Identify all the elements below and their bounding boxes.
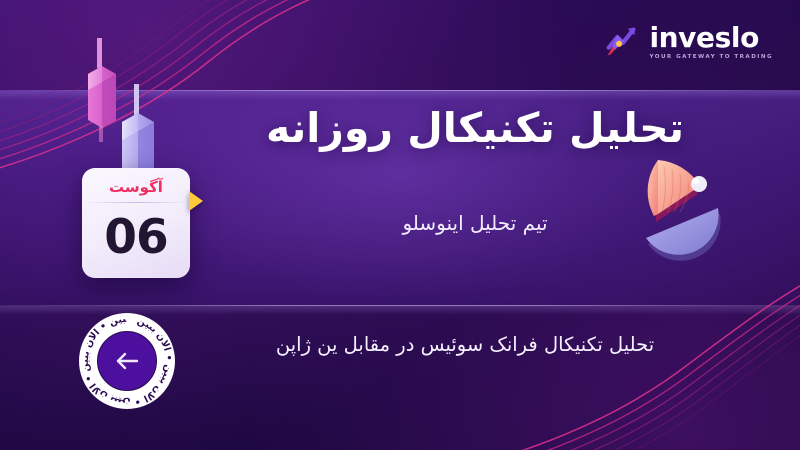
brand-logo[interactable]: inveslo YOUR GATEWAY TO TRADING bbox=[602, 22, 774, 61]
rocket-growth-arrow-icon bbox=[602, 22, 640, 60]
watch-now-badge[interactable]: الان ببین • الان ببین • الان ببین • الان… bbox=[79, 313, 175, 409]
brand-name: inveslo bbox=[649, 24, 774, 52]
calendar-separator bbox=[82, 202, 190, 203]
page-subtitle: تیم تحلیل اینوسلو bbox=[190, 211, 760, 235]
calendar-flag-icon bbox=[189, 191, 203, 211]
description-text: تحلیل تکنیکال فرانک سوئیس در مقابل ین ژا… bbox=[185, 330, 745, 360]
slide-canvas: inveslo YOUR GATEWAY TO TRADING آگوست 06… bbox=[0, 0, 800, 450]
brand-tagline: YOUR GATEWAY TO TRADING bbox=[649, 55, 774, 61]
page-title: تحلیل تکنیکال روزانه bbox=[190, 104, 760, 152]
watch-now-core[interactable] bbox=[98, 332, 156, 390]
pie-chart-decoration bbox=[614, 152, 726, 268]
calendar-day: 06 bbox=[104, 210, 167, 265]
calendar-widget: آگوست 06 bbox=[82, 168, 190, 278]
arrow-left-icon bbox=[112, 350, 142, 372]
calendar-month: آگوست bbox=[109, 178, 163, 196]
